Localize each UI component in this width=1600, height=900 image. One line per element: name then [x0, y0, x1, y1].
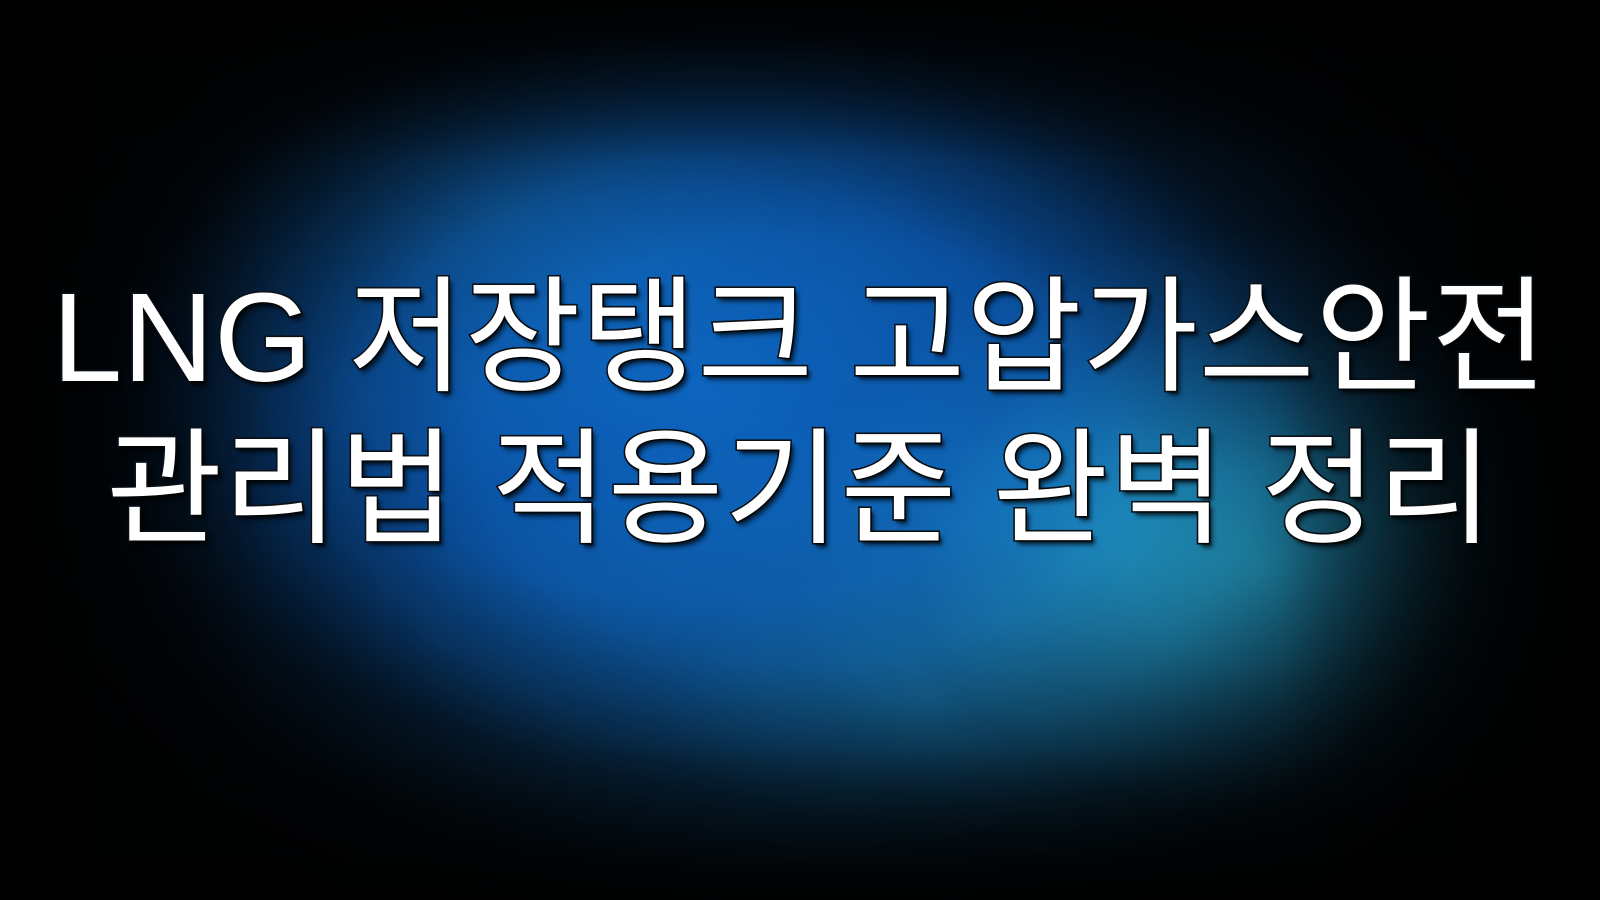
- title-line-1: LNG 저장탱크 고압가스안전: [0, 262, 1600, 414]
- title-card-canvas: LNG 저장탱크 고압가스안전 관리법 적용기준 완벽 정리: [0, 0, 1600, 900]
- title-block: LNG 저장탱크 고압가스안전 관리법 적용기준 완벽 정리: [0, 262, 1600, 566]
- title-line-2: 관리법 적용기준 완벽 정리: [0, 414, 1600, 566]
